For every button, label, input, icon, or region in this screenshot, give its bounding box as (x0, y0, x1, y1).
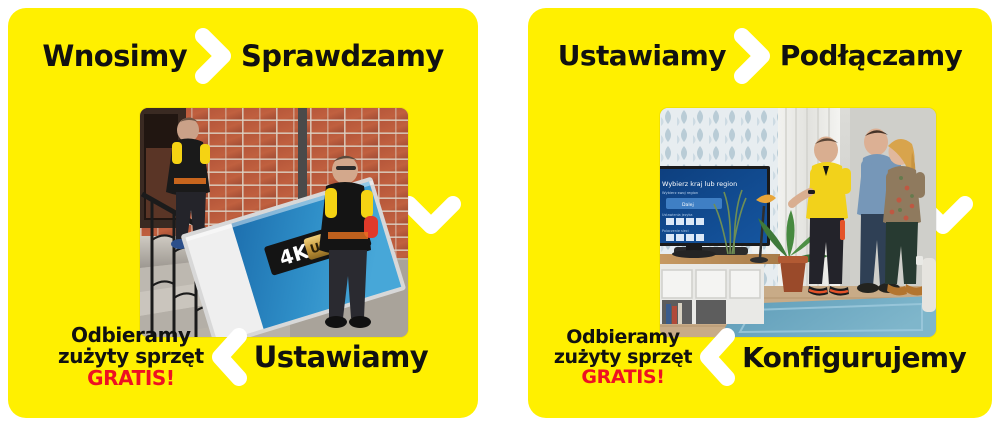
pickup-gratis-badge: GRATIS! (58, 368, 204, 389)
bottom-step-row: Odbieramy zużyty sprzęt GRATIS! Konfigur… (528, 314, 992, 400)
chevron-right-icon (193, 28, 235, 84)
pickup-gratis-badge: GRATIS! (554, 367, 692, 387)
bottom-step-row: Odbieramy zużyty sprzęt GRATIS! Ustawiam… (8, 314, 478, 400)
step-label-wnosimy: Wnosimy (42, 42, 187, 71)
photo-delivery-carrying-tv: 4K ULTRAHD (140, 108, 408, 337)
svg-text:Dalej: Dalej (682, 202, 694, 208)
delivery-steps-panel: Wnosimy Sprawdzamy (8, 8, 478, 418)
chevron-down-icon (400, 194, 462, 238)
installation-steps-panel: Ustawiamy Podłączamy (528, 8, 992, 418)
free-pickup-note: Odbieramy zużyty sprzęt GRATIS! (554, 327, 692, 387)
svg-text:Wybierz kraj lub region: Wybierz kraj lub region (662, 180, 737, 188)
step-label-podlaczamy: Podłączamy (780, 42, 962, 70)
svg-text:Ustawienia jezyka: Ustawienia jezyka (662, 213, 693, 217)
infographic-stage: Wnosimy Sprawdzamy (0, 0, 1000, 429)
chevron-left-icon (208, 326, 250, 388)
step-label-ustawiamy: Ustawiamy (254, 340, 428, 374)
top-step-row: Wnosimy Sprawdzamy (8, 30, 478, 82)
pickup-line-1: Odbieramy (566, 326, 680, 348)
photo-installation-configuring-tv: Wybierz kraj lub region Wybierz swoj reg… (660, 108, 936, 337)
pickup-line-2: zużyty sprzęt (554, 346, 692, 368)
chevron-left-icon (696, 326, 738, 388)
top-step-row: Ustawiamy Podłączamy (528, 30, 992, 82)
pickup-line-2: zużyty sprzęt (58, 344, 204, 368)
free-pickup-note: Odbieramy zużyty sprzęt GRATIS! (58, 325, 204, 389)
step-label-sprawdzamy: Sprawdzamy (241, 42, 444, 71)
svg-text:Wybierz swoj region: Wybierz swoj region (662, 191, 698, 195)
svg-text:Polaczenie sieci: Polaczenie sieci (662, 229, 689, 233)
chevron-right-icon (732, 28, 774, 84)
step-label-ustawiamy: Ustawiamy (558, 42, 726, 70)
step-label-konfigurujemy: Konfigurujemy (742, 341, 966, 374)
